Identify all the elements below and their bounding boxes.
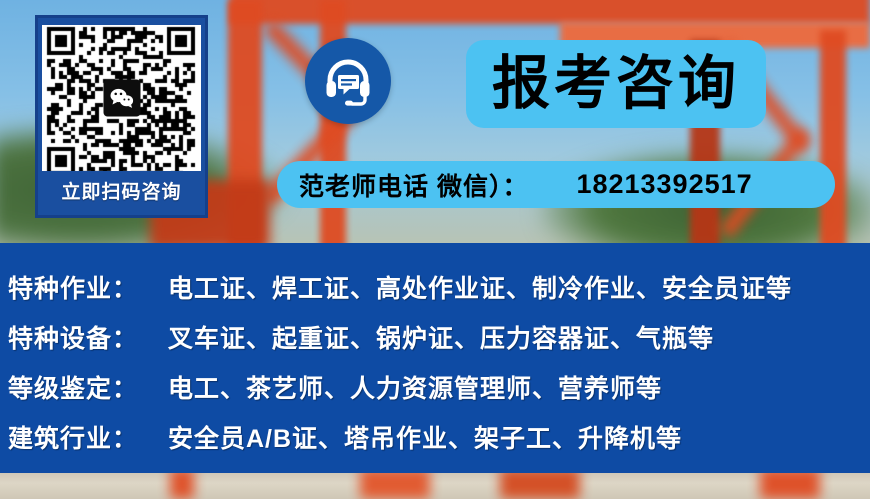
wechat-icon xyxy=(103,80,140,117)
certificate-list-panel: 特种作业： 电工证、焊工证、高处作业证、制冷作业、安全员证等 特种设备： 叉车证… xyxy=(0,243,870,473)
list-row-items: 电工、茶艺师、人力资源管理师、营养师等 xyxy=(168,369,870,405)
qr-card-caption: 立即扫码咨询 xyxy=(61,171,181,215)
crane-column-far-right xyxy=(820,30,846,250)
qr-code-image[interactable] xyxy=(42,25,201,171)
list-row-category: 建筑行业： xyxy=(8,419,158,455)
list-row-category: 等级鉴定： xyxy=(8,369,158,405)
contact-label: 范老师电话 微信）： xyxy=(299,167,528,203)
qr-code-card[interactable]: 立即扫码咨询 xyxy=(35,15,208,218)
ground-strip xyxy=(0,470,870,499)
list-row-items: 叉车证、起重证、锅炉证、压力容器证、气瓶等 xyxy=(168,319,870,355)
headset-support-icon[interactable] xyxy=(305,38,391,124)
list-row: 特种设备： 叉车证、起重证、锅炉证、压力容器证、气瓶等 xyxy=(8,319,870,369)
list-row: 等级鉴定： 电工、茶艺师、人力资源管理师、营养师等 xyxy=(8,369,870,419)
headline-banner: 报考咨询 xyxy=(466,40,766,128)
contact-banner[interactable]: 范老师电话 微信）： 18213392517 xyxy=(277,161,835,208)
list-row-items: 安全员A/B证、塔吊作业、架子工、升降机等 xyxy=(168,419,870,455)
list-row: 特种作业： 电工证、焊工证、高处作业证、制冷作业、安全员证等 xyxy=(8,269,870,319)
list-row-category: 特种设备： xyxy=(8,319,158,355)
list-row-category: 特种作业： xyxy=(8,269,158,305)
list-row: 建筑行业： 安全员A/B证、塔吊作业、架子工、升降机等 xyxy=(8,419,870,469)
promotional-poster: 立即扫码咨询 报考咨询 范老师电话 微信）： 18213392517 特种作业：… xyxy=(0,0,870,499)
list-row-items: 电工证、焊工证、高处作业证、制冷作业、安全员证等 xyxy=(168,269,870,305)
headline-text: 报考咨询 xyxy=(492,55,740,113)
contact-phone-number[interactable]: 18213392517 xyxy=(576,169,752,200)
